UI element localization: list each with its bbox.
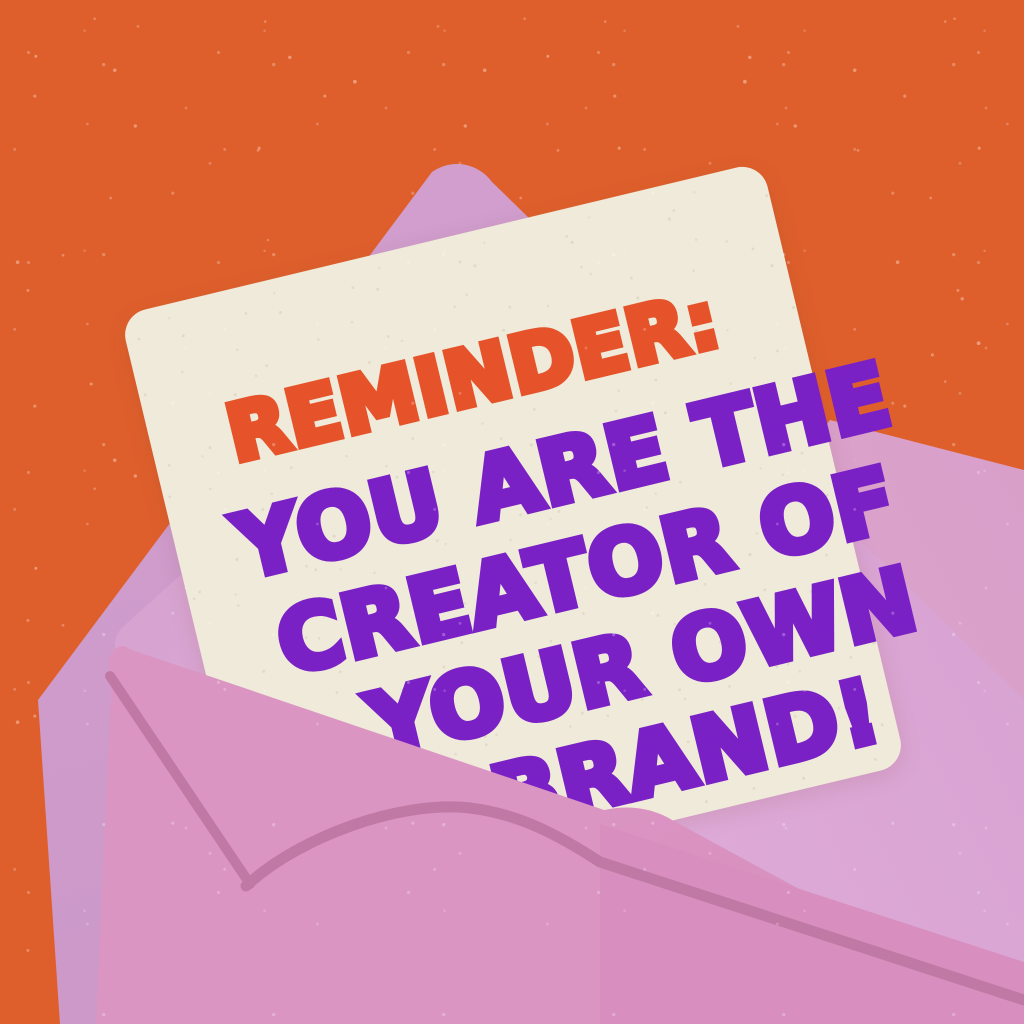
artwork-canvas: REMINDER: YOU ARE THE CREATOR OF YOUR OW… [0,0,1024,1024]
envelope-front-final [0,0,1024,1024]
envelope-pocket-right [600,824,1024,1024]
